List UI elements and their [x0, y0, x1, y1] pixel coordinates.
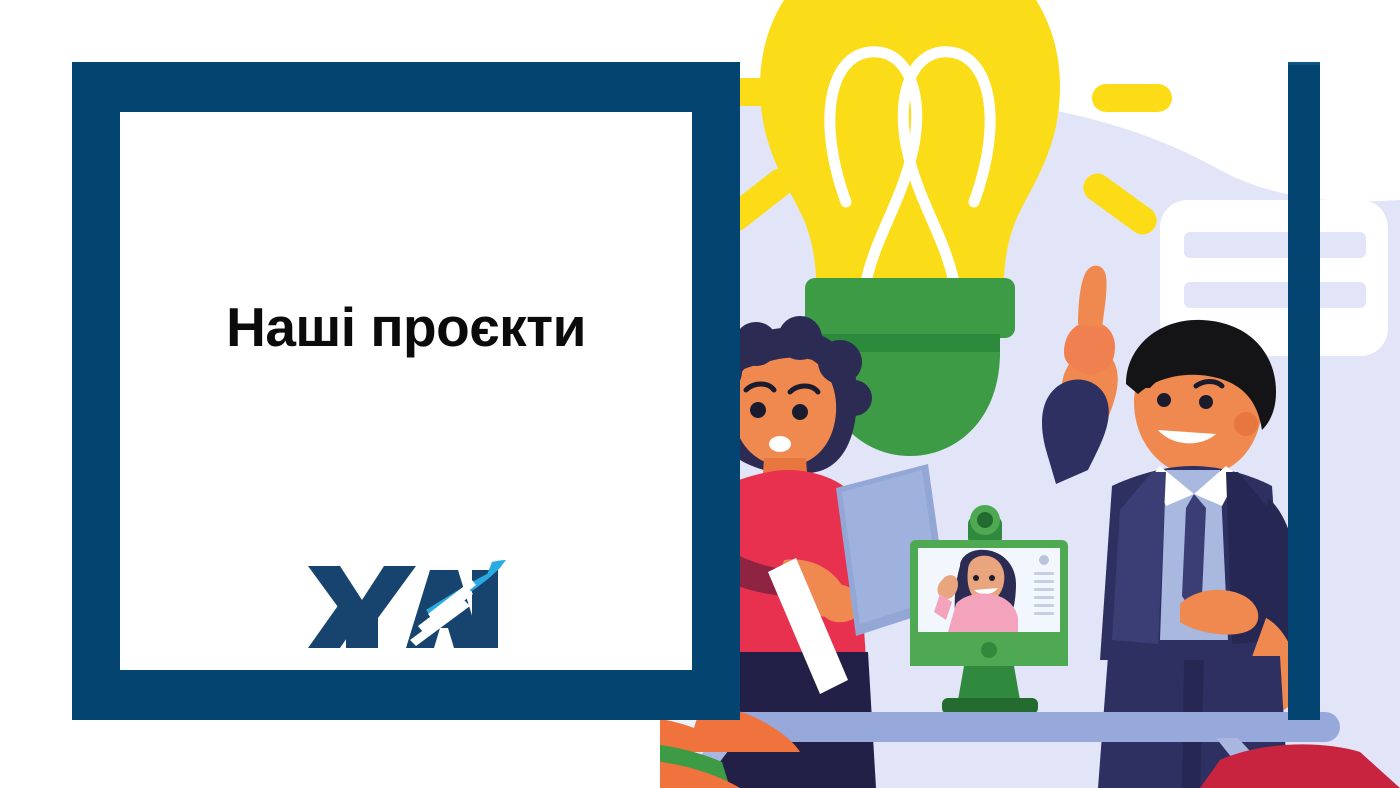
chat-bubble-line [1184, 282, 1366, 308]
slide-canvas: Наші проєкти [0, 0, 1400, 788]
content-frame-right-edge [1288, 62, 1320, 720]
content-frame: Наші проєкти [72, 62, 740, 720]
caller-video [918, 548, 1060, 632]
page-title: Наші проєкти [120, 300, 692, 355]
xai-logo [306, 552, 506, 656]
content-card: Наші проєкти [120, 112, 692, 670]
chat-bubble-line [1184, 232, 1366, 258]
bulb-collar [805, 278, 1015, 338]
content-frame-right-highlight [1288, 62, 1320, 65]
